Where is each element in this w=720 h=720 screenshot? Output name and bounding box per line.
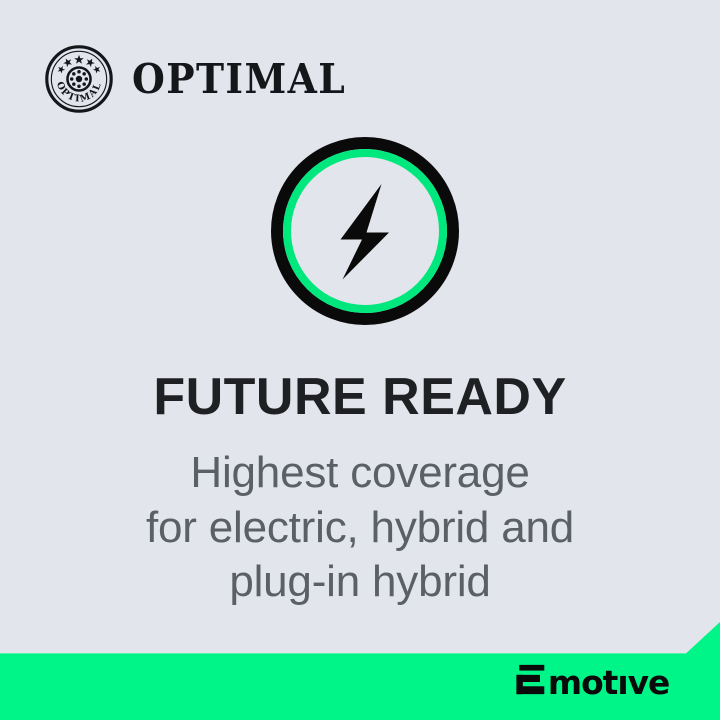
subcopy-line: Highest coverage <box>0 446 720 501</box>
optimal-seal-icon: OPTIMAL <box>44 44 114 114</box>
seal-inscription: OPTIMAL <box>54 80 104 105</box>
lightning-bolt-in-circle-icon <box>271 137 459 325</box>
emotive-logo: motıve Emotive <box>515 658 694 702</box>
brand-lockup: OPTIMAL OPTIMAL <box>44 44 365 114</box>
copy-block: FUTURE READY Highest coverage for electr… <box>0 370 720 610</box>
emotive-wordmark-text: motıve <box>548 664 669 702</box>
subcopy-line: plug-in hybrid <box>0 555 720 610</box>
promo-card: OPTIMAL OPTIMAL <box>0 0 720 720</box>
subcopy-line: for electric, hybrid and <box>0 501 720 556</box>
page-title: FUTURE READY <box>0 370 720 424</box>
subcopy: Highest coverage for electric, hybrid an… <box>0 446 720 610</box>
svg-text:OPTIMAL: OPTIMAL <box>54 80 104 105</box>
brand-wordmark: OPTIMAL <box>132 59 346 100</box>
footer-banner: motıve Emotive <box>0 622 720 720</box>
